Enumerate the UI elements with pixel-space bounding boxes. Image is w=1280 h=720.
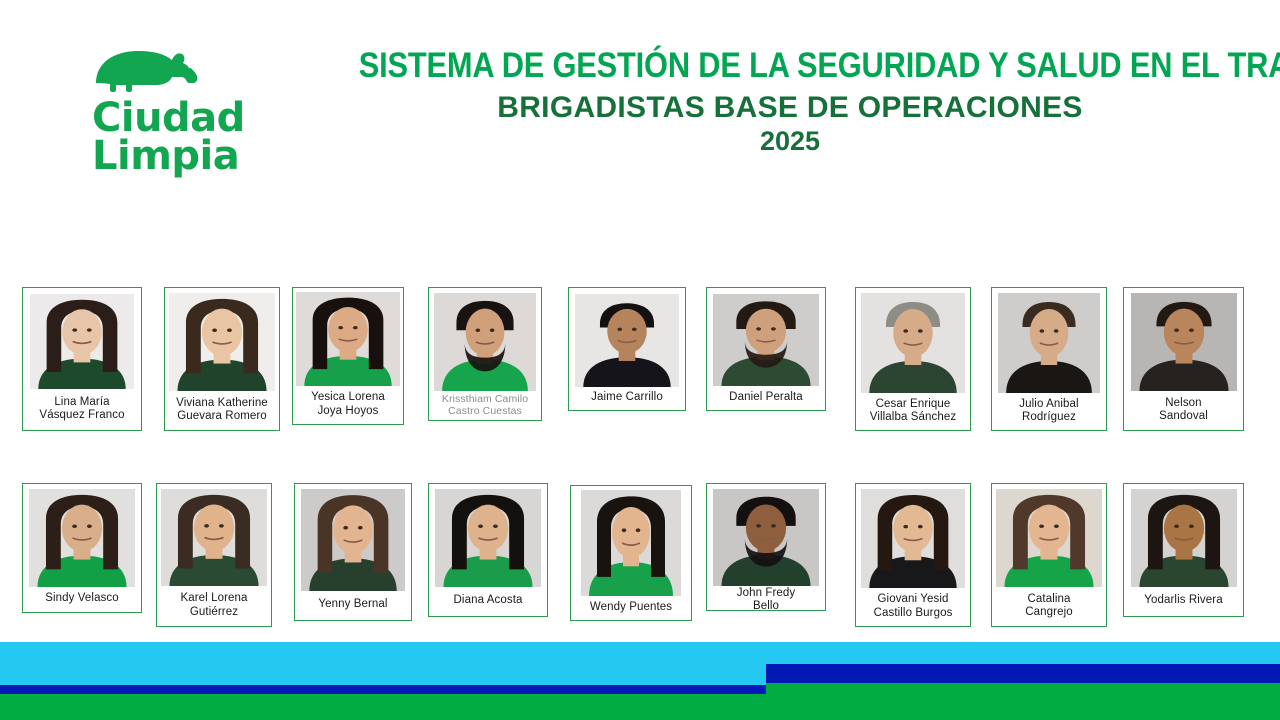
brigadista-name: Wendy Puentes — [571, 596, 691, 620]
brigadista-photo — [713, 489, 819, 586]
brigadista-photo — [575, 294, 679, 387]
page-year: 2025 — [300, 127, 1280, 155]
brigadista-card[interactable]: Yenny Bernal — [294, 483, 412, 621]
brigadista-name: Catalina Cangrejo — [992, 587, 1106, 626]
brigadista-photo — [1131, 489, 1237, 587]
brigadista-card[interactable]: Karel Lorena Gutiérrez — [156, 483, 272, 627]
band-blue-right — [766, 664, 1280, 683]
logo-wordmark: Ciudad Limpia — [92, 99, 322, 176]
brigadista-card[interactable]: Krissthiam Camilo Castro Cuestas — [428, 287, 542, 421]
brigadista-photo — [581, 490, 681, 596]
band-green-left — [0, 694, 766, 720]
brigadista-photo — [861, 489, 965, 588]
brigadista-name: Yodarlis Rivera — [1124, 587, 1243, 616]
brigadista-photo — [861, 293, 965, 393]
brigadista-name: Jaime Carrillo — [569, 387, 685, 410]
brigadista-name: Karel Lorena Gutiérrez — [157, 586, 271, 626]
brigadista-photo — [435, 489, 541, 587]
brigadista-name: Julio Anibal Rodríguez — [992, 393, 1106, 430]
brigadista-card[interactable]: Sindy Velasco — [22, 483, 142, 613]
brigadista-photo — [434, 293, 536, 391]
brigadista-name: Krissthiam Camilo Castro Cuestas — [429, 391, 541, 420]
band-cyan-right — [766, 642, 1280, 664]
title-block: SISTEMA DE GESTIÓN DE LA SEGURIDAD Y SAL… — [300, 48, 1280, 155]
brigadista-photo — [1131, 293, 1237, 391]
band-blue-left — [0, 685, 766, 694]
brigadista-name: Nelson Sandoval — [1124, 391, 1243, 430]
brigadista-card[interactable]: Diana Acosta — [428, 483, 548, 617]
band-green-right — [766, 683, 1280, 720]
brigadista-card[interactable]: Julio Anibal Rodríguez — [991, 287, 1107, 431]
brigadista-card[interactable]: Jaime Carrillo — [568, 287, 686, 411]
brigadista-name: Giovani Yesid Castillo Burgos — [856, 588, 970, 626]
brigadista-card[interactable]: Cesar Enrique Villalba Sánchez — [855, 287, 971, 431]
brigadista-photo — [169, 293, 275, 391]
brigadista-photo — [996, 489, 1102, 587]
brigadista-name: Sindy Velasco — [23, 587, 141, 612]
brigadista-card[interactable]: Yodarlis Rivera — [1123, 483, 1244, 617]
brigadista-card[interactable]: Viviana Katherine Guevara Romero — [164, 287, 280, 431]
brigadista-name: Daniel Peralta — [707, 386, 825, 410]
band-cyan-left — [0, 642, 766, 685]
brigadistas-row-2: Sindy Velasco Karel Lorena Gutiérrez Yen… — [0, 483, 1280, 633]
brigadista-name: John Fredy Bello — [707, 586, 825, 611]
brigadista-card[interactable]: John Fredy Bello — [706, 483, 826, 611]
brigadista-name: Viviana Katherine Guevara Romero — [165, 391, 279, 430]
brigadista-name: Lina María Vásquez Franco — [23, 389, 141, 430]
page-title: SISTEMA DE GESTIÓN DE LA SEGURIDAD Y SAL… — [359, 48, 1221, 83]
brigadista-card[interactable]: Giovani Yesid Castillo Burgos — [855, 483, 971, 627]
page-subtitle: BRIGADISTAS BASE DE OPERACIONES — [300, 92, 1280, 124]
brigadista-name: Cesar Enrique Villalba Sánchez — [856, 393, 970, 430]
brigadista-name: Yesica Lorena Joya Hoyos — [293, 386, 403, 424]
brigadista-card[interactable]: Daniel Peralta — [706, 287, 826, 411]
hippo-icon — [94, 45, 209, 93]
brigadista-card[interactable]: Wendy Puentes — [570, 485, 692, 621]
brigadista-photo — [301, 489, 405, 591]
brigadista-card[interactable]: Catalina Cangrejo — [991, 483, 1107, 627]
page-header: Ciudad Limpia SISTEMA DE GESTIÓN DE LA S… — [0, 0, 1280, 205]
brigadista-photo — [998, 293, 1100, 393]
brigadista-card[interactable]: Nelson Sandoval — [1123, 287, 1244, 431]
brigadista-photo — [30, 294, 134, 389]
brigadistas-row-1: Lina María Vásquez Franco Viviana Kather… — [0, 287, 1280, 437]
brigadista-photo — [296, 292, 400, 386]
brigadista-photo — [29, 489, 135, 587]
brigadista-photo — [161, 489, 267, 586]
ciudad-limpia-logo: Ciudad Limpia — [92, 45, 322, 190]
brigadista-card[interactable]: Yesica Lorena Joya Hoyos — [292, 287, 404, 425]
brigadista-photo — [713, 294, 819, 386]
brigadista-card[interactable]: Lina María Vásquez Franco — [22, 287, 142, 431]
footer-color-bands — [0, 642, 1280, 720]
brigadista-name: Diana Acosta — [429, 587, 547, 616]
brigadista-name: Yenny Bernal — [295, 591, 411, 620]
